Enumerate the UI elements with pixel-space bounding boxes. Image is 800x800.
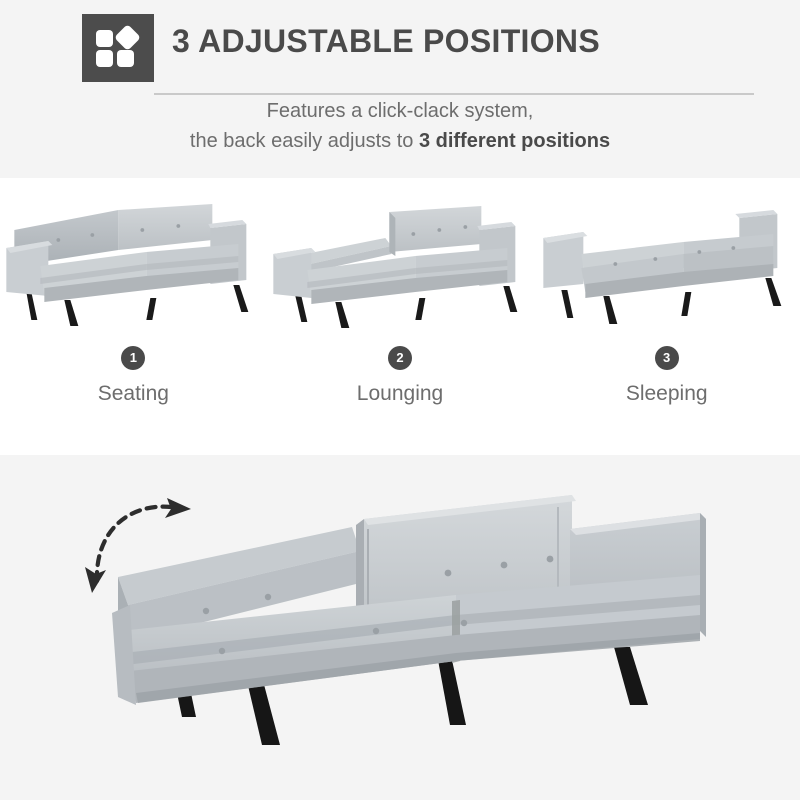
- position-badge: 3: [655, 346, 679, 370]
- square-diamond-top-right-icon: [114, 24, 141, 51]
- position-card-lounging: 2 Lounging: [267, 178, 534, 455]
- subtitle-line-1: Features a click-clack system,: [267, 100, 534, 122]
- four-squares-icon: [96, 27, 140, 69]
- infographic-page: 3 ADJUSTABLE POSITIONS Features a click-…: [0, 0, 800, 800]
- position-badge: 2: [388, 346, 412, 370]
- sofa-lounging-figure: [267, 192, 534, 332]
- header-icon-box: [82, 14, 154, 82]
- hero-band: [0, 455, 800, 800]
- square-bottom-left-icon: [96, 50, 113, 67]
- recline-motion-arrow: [75, 485, 205, 595]
- position-label-seating: Seating: [0, 382, 267, 406]
- header-band: 3 ADJUSTABLE POSITIONS Features a click-…: [0, 0, 800, 178]
- subtitle-line-2-prefix: the back easily adjusts to: [190, 130, 419, 152]
- header-title-row: 3 ADJUSTABLE POSITIONS: [0, 14, 800, 72]
- square-top-left-icon: [96, 30, 113, 47]
- position-label-lounging: Lounging: [267, 382, 534, 406]
- subtitle-line-2-emphasis: 3 different positions: [419, 130, 610, 152]
- sofa-seating-figure: [0, 192, 267, 332]
- position-label-sleeping: Sleeping: [533, 382, 800, 406]
- sofa-sleeping-figure: [533, 192, 800, 332]
- position-card-sleeping: 3 Sleeping: [533, 178, 800, 455]
- position-card-seating: 1 Seating: [0, 178, 267, 455]
- square-bottom-right-icon: [117, 50, 134, 67]
- position-badge: 1: [121, 346, 145, 370]
- page-title: 3 ADJUSTABLE POSITIONS: [172, 23, 600, 60]
- positions-grid: 1 Seating: [0, 178, 800, 455]
- positions-band: 1 Seating: [0, 178, 800, 455]
- header-subtitle: Features a click-clack system, the back …: [0, 96, 800, 156]
- title-divider: [154, 93, 754, 95]
